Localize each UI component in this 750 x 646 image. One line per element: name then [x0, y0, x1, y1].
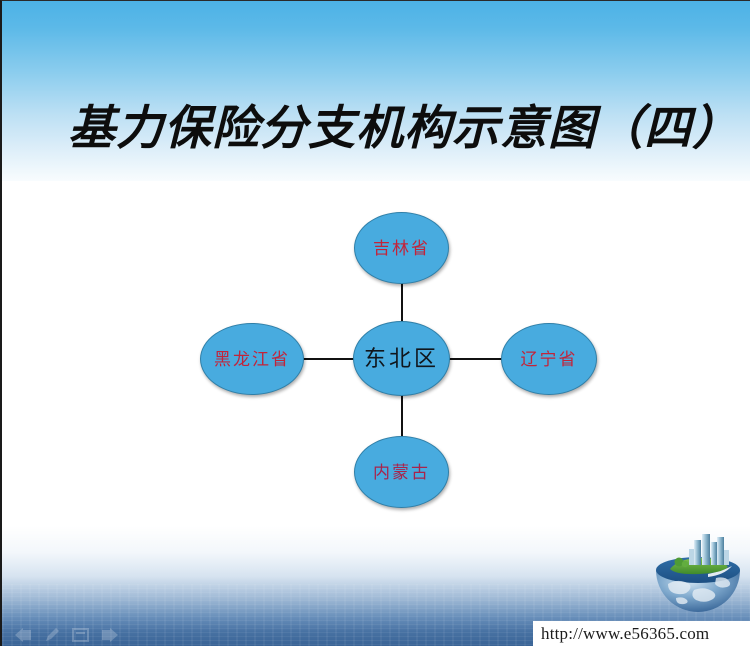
presenter-controls[interactable] — [14, 628, 119, 642]
connector-hub-to-right — [442, 358, 510, 360]
slide-menu-icon[interactable] — [72, 628, 89, 642]
node-liaoning-label: 辽宁省 — [521, 351, 578, 368]
node-liaoning[interactable]: 辽宁省 — [501, 323, 597, 395]
org-chart-diagram: 吉林省 黑龙江省 东北区 辽宁省 内蒙古 — [2, 1, 750, 646]
next-slide-icon[interactable] — [101, 628, 119, 642]
node-jilin-label: 吉林省 — [373, 240, 430, 257]
pen-icon[interactable] — [44, 628, 60, 642]
node-heilongjiang-label: 黑龙江省 — [214, 351, 290, 368]
node-northeast-region-hub[interactable]: 东北区 — [353, 321, 450, 396]
watermark-url-text: http://www.e56365.com — [541, 624, 709, 644]
connector-hub-to-left — [294, 358, 362, 360]
node-jilin[interactable]: 吉林省 — [354, 212, 449, 284]
watermark-url-bar: http://www.e56365.com — [533, 621, 750, 646]
node-inner-mongolia-label: 内蒙古 — [373, 464, 430, 481]
node-northeast-region-label: 东北区 — [364, 348, 439, 370]
globe-city-logo — [650, 526, 746, 618]
previous-slide-icon[interactable] — [14, 628, 32, 642]
node-heilongjiang[interactable]: 黑龙江省 — [200, 323, 304, 395]
presentation-slide: 基力保险分支机构示意图（四） 吉林省 黑龙江省 东北区 辽宁省 内蒙古 — [0, 0, 750, 646]
node-inner-mongolia[interactable]: 内蒙古 — [354, 436, 449, 508]
